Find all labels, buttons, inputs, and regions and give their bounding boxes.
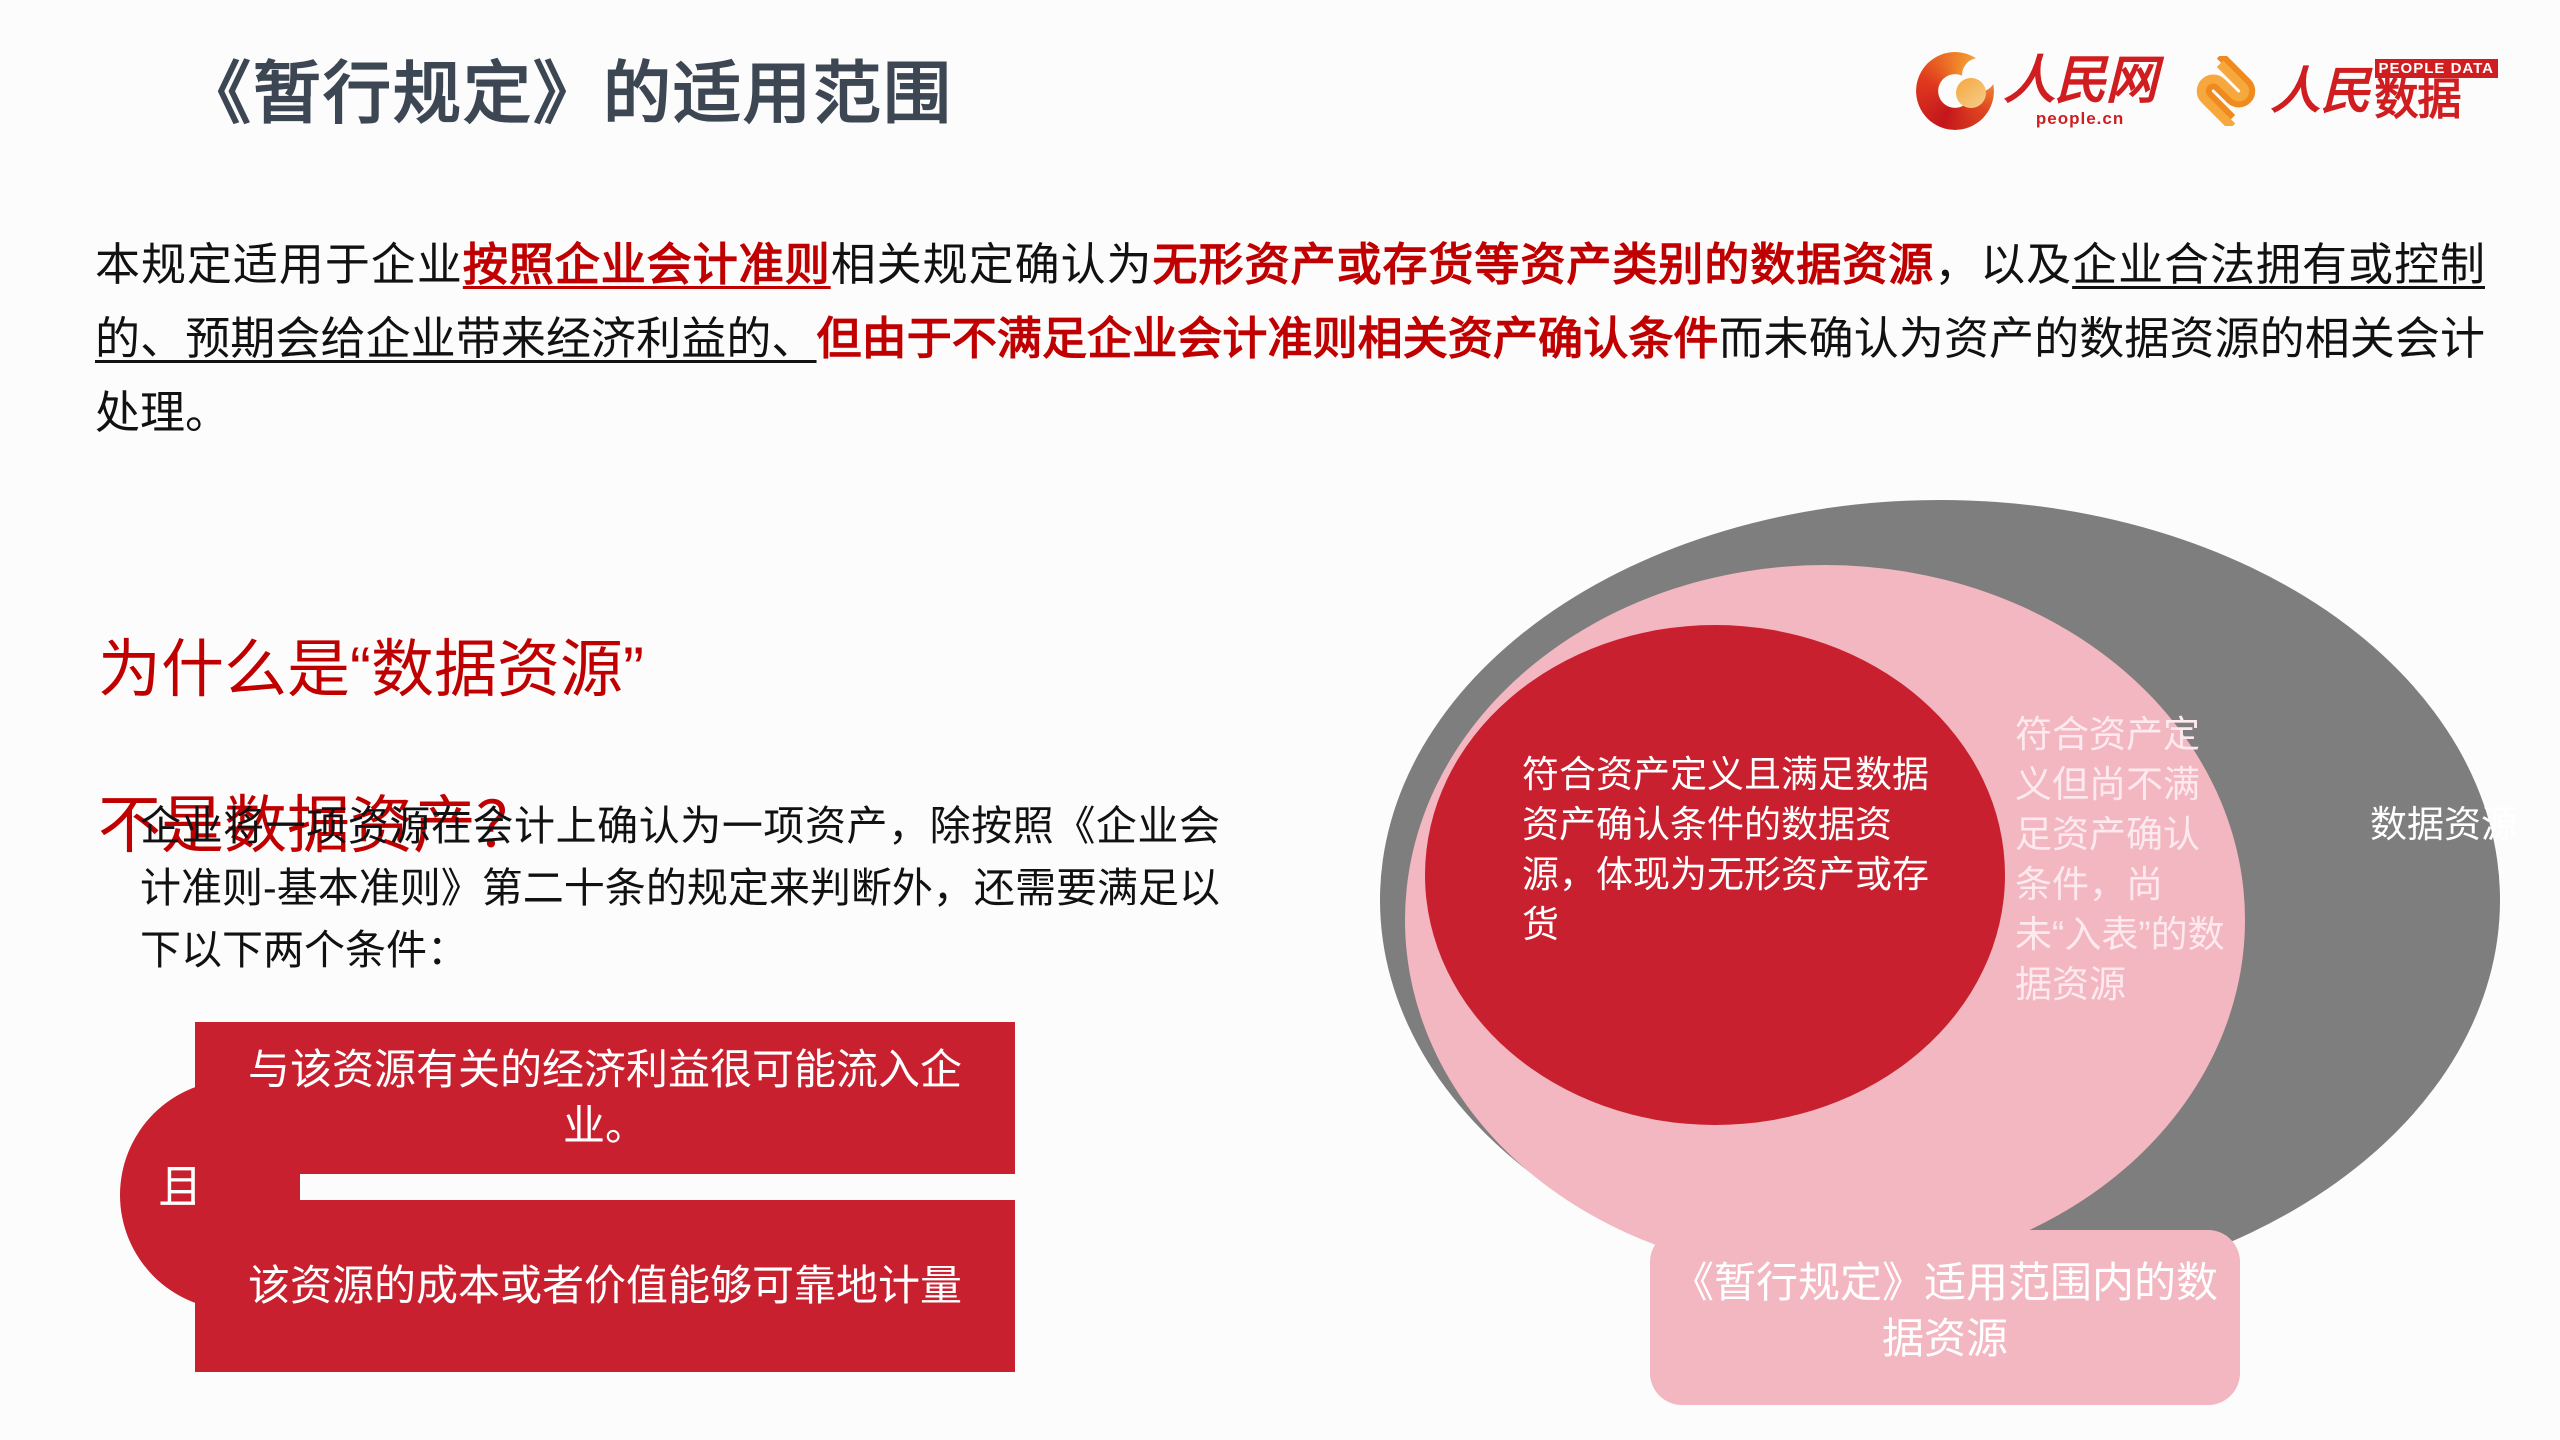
intro-segment-7-highlight: 但由于不满足企业会计准则相关资产确认条件: [817, 313, 1719, 364]
people-data-logo: 人民 PEOPLE DATA 数据: [2191, 56, 2498, 126]
why-heading-line-1: 为什么是“数据资源”: [98, 631, 644, 709]
intro-paragraph: 本规定适用于企业按照企业会计准则相关规定确认为无形资产或存货等资产类别的数据资源…: [95, 228, 2485, 450]
intro-segment-4-highlight: 无形资产或存货等资产类别的数据资源: [1153, 239, 1935, 290]
people-data-knot-icon: [2191, 56, 2261, 126]
intro-segment-5: ，以及: [1934, 239, 2072, 290]
venn-middle-label: 符合资产定义但尚不满足资产确认条件，尚未“入表”的数据资源: [2015, 710, 2235, 1010]
venn-outer-label: 数据资源: [2370, 800, 2520, 850]
people-data-chinese-right: 数据: [2375, 78, 2498, 123]
logo-bar: 人民网 people.cn 人民 PEOPLE DATA 数据: [1916, 52, 2498, 130]
slide-root: 《暂行规定》的适用范围 人民网 people.cn: [0, 0, 2560, 1440]
people-cn-swirl-icon: [1916, 52, 1994, 130]
venn-callout-label: 《暂行规定》适用范围内的数据资源: [1660, 1255, 2230, 1367]
intro-segment-2-highlight: 按照企业会计准则: [463, 239, 831, 290]
page-title: 《暂行规定》的适用范围: [183, 38, 953, 137]
venn-diagram: 符合资产定义且满足数据资产确认条件的数据资源，体现为无形资产或存货 符合资产定义…: [1370, 495, 2510, 1425]
people-cn-chinese-name: 人民网: [2004, 56, 2157, 108]
conditions-group: 且 与该资源有关的经济利益很可能流入企业。 该资源的成本或者价值能够可靠地计量: [120, 1022, 1050, 1372]
condition-box-1: 与该资源有关的经济利益很可能流入企业。: [195, 1022, 1015, 1174]
intro-segment-3: 相关规定确认为: [831, 239, 1153, 290]
condition-box-2: 该资源的成本或者价值能够可靠地计量: [195, 1200, 1015, 1372]
condition-paragraph: 企业将一项资源在会计上确认为一项资产，除按照《企业会计准则-基本准则》第二十条的…: [140, 795, 1220, 981]
intro-segment-1: 本规定适用于企业: [95, 239, 463, 290]
people-cn-domain: people.cn: [2036, 110, 2124, 127]
people-data-chinese-left: 人民: [2271, 66, 2371, 116]
venn-inner-label: 符合资产定义且满足数据资产确认条件的数据资源，体现为无形资产或存货: [1522, 750, 1942, 950]
people-cn-logo: 人民网 people.cn: [1916, 52, 2157, 130]
